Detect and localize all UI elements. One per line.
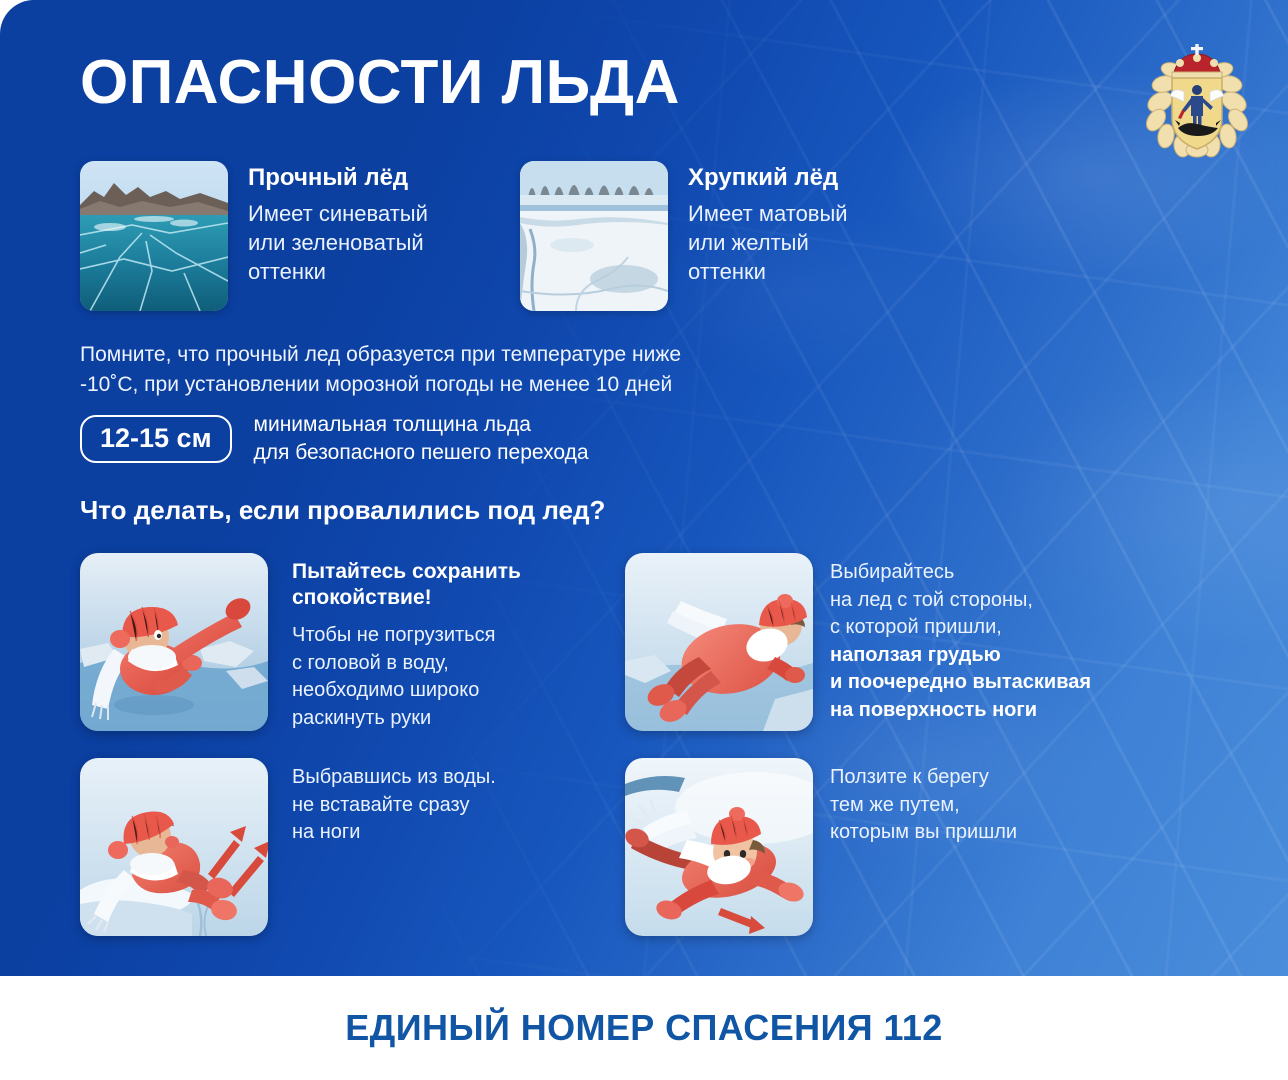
advice-card-do-not-stand: Выбравшись из воды. не вставайте сразу н… xyxy=(80,758,625,943)
person-crawling-to-shore-illustration xyxy=(625,758,813,936)
ice-type-description: Имеет матовый или желтый оттенки xyxy=(688,199,988,286)
ice-background-panel: ОПАСНОСТИ ЛЬДА xyxy=(0,0,1288,976)
advice-description: Чтобы не погрузиться с головой в воду, н… xyxy=(292,622,622,732)
advice-description-plain: Выбирайтесь на лед с той стороны, с кото… xyxy=(830,561,1033,638)
advice-description-plain: Ползите к берегу тем же путем, которым в… xyxy=(830,766,1017,843)
thickness-caption: минимальная толщина льда для безопасного… xyxy=(254,411,589,467)
advice-description-plain: Выбравшись из воды. не вставайте сразу н… xyxy=(292,766,496,843)
advice-description: Ползите к берегу тем же путем, которым в… xyxy=(830,764,1180,847)
ice-type-cards: Прочный лёд Имеет синеватый или зеленова… xyxy=(80,161,1080,311)
advice-card-crawl-out: Выбирайтесь на лед с той стороны, с кото… xyxy=(625,553,1170,738)
ice-type-card-fragile: Хрупкий лёд Имеет матовый или желтый отт… xyxy=(520,161,1000,311)
section-heading-what-to-do: Что делать, если провалились под лед? xyxy=(80,495,605,526)
ice-type-card-strong: Прочный лёд Имеет синеватый или зеленова… xyxy=(80,161,560,311)
minimum-thickness-row: 12-15 см минимальная толщина льда для бе… xyxy=(80,411,589,467)
person-crawling-out-chest-first-illustration xyxy=(625,553,813,731)
advice-row-2: Выбравшись из воды. не вставайте сразу н… xyxy=(80,758,1190,963)
person-lying-do-not-stand-up-illustration xyxy=(80,758,268,936)
footer-bar: ЕДИНЫЙ НОМЕР СПАСЕНИЯ 112 xyxy=(0,976,1288,1080)
ice-type-heading: Прочный лёд xyxy=(248,165,548,191)
ice-type-heading: Хрупкий лёд xyxy=(688,165,988,191)
advice-card-stay-calm: Пытайтесь сохранить спокойствие! Чтобы н… xyxy=(80,553,625,738)
ice-formation-note: Помните, что прочный лед образуется при … xyxy=(80,340,880,401)
advice-grid: Пытайтесь сохранить спокойствие! Чтобы н… xyxy=(80,553,1190,963)
advice-description: Выбирайтесь на лед с той стороны, с кото… xyxy=(830,559,1180,725)
page-title: ОПАСНОСТИ ЛЬДА xyxy=(80,50,680,115)
advice-row-1: Пытайтесь сохранить спокойствие! Чтобы н… xyxy=(80,553,1190,758)
advice-description: Выбравшись из воды. не вставайте сразу н… xyxy=(292,764,622,847)
advice-description-bold: наползая грудью и поочередно вытаскивая … xyxy=(830,644,1091,721)
emergency-number-text: ЕДИНЫЙ НОМЕР СПАСЕНИЯ 112 xyxy=(345,1007,942,1049)
thickness-badge: 12-15 см xyxy=(80,415,232,463)
fragile-ice-photo xyxy=(520,161,668,311)
advice-lead: Пытайтесь сохранить спокойствие! xyxy=(292,559,622,612)
advice-card-crawl-to-shore: Ползите к берегу тем же путем, которым в… xyxy=(625,758,1170,943)
coat-of-arms-icon xyxy=(1138,42,1256,160)
person-arms-spread-on-ice-illustration xyxy=(80,553,268,731)
ice-type-description: Имеет синеватый или зеленоватый оттенки xyxy=(248,199,548,286)
advice-description-plain: Чтобы не погрузиться с головой в воду, н… xyxy=(292,624,495,729)
poster-root: ОПАСНОСТИ ЛЬДА xyxy=(0,0,1288,1080)
strong-ice-photo xyxy=(80,161,228,311)
